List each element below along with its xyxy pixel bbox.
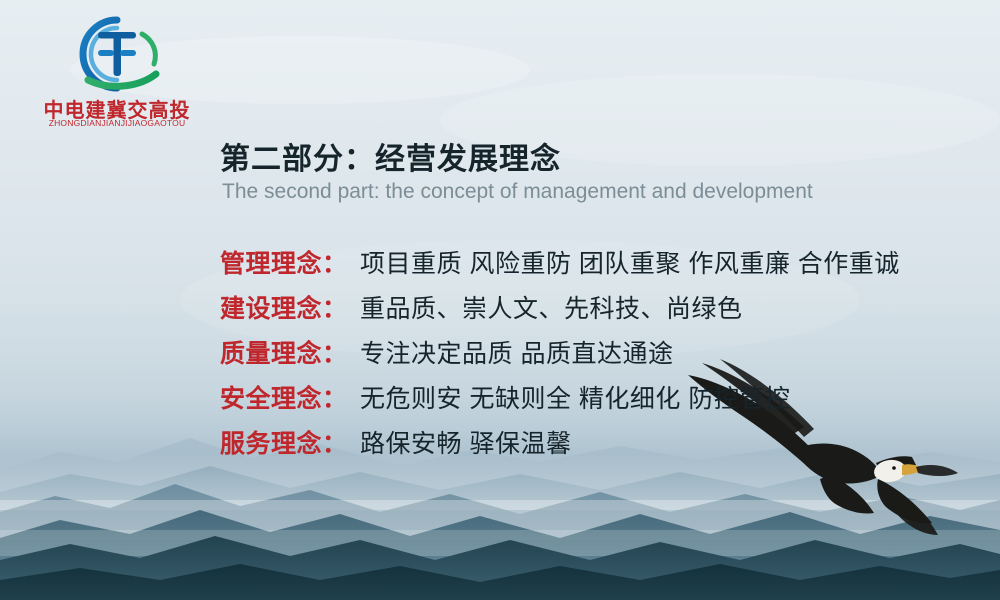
concept-value: 路保安畅 驿保温馨 <box>360 424 571 460</box>
concept-list: 管理理念： 项目重质 风险重防 团队重聚 作风重廉 合作重诚 建设理念： 重品质… <box>220 244 960 469</box>
company-logo: 中电建冀交高投 ZHONGDIANJIANJIJIAOGAOTOU <box>22 10 212 135</box>
concept-label: 安全理念： <box>220 379 360 415</box>
concept-row: 管理理念： 项目重质 风险重防 团队重聚 作风重廉 合作重诚 <box>220 244 960 289</box>
concept-label: 建设理念： <box>220 289 360 325</box>
concept-row: 质量理念： 专注决定品质 品质直达通途 <box>220 334 960 379</box>
slide-title-chinese: 第二部分：经营发展理念 <box>220 134 561 178</box>
concept-label: 质量理念： <box>220 334 360 370</box>
concept-value: 项目重质 风险重防 团队重聚 作风重廉 合作重诚 <box>360 244 900 280</box>
concept-label: 服务理念： <box>220 424 360 460</box>
concept-label: 管理理念： <box>220 244 360 280</box>
logo-mark-icon <box>22 10 212 96</box>
concept-value: 重品质、崇人文、先科技、尚绿色 <box>360 289 743 325</box>
concept-value: 无危则安 无缺则全 精化细化 防控管控 <box>360 379 790 415</box>
presentation-slide: 中电建冀交高投 ZHONGDIANJIANJIJIAOGAOTOU 第二部分：经… <box>0 0 1000 600</box>
logo-company-pinyin: ZHONGDIANJIANJIJIAOGAOTOU <box>22 118 212 128</box>
concept-row: 安全理念： 无危则安 无缺则全 精化细化 防控管控 <box>220 379 960 424</box>
concept-value: 专注决定品质 品质直达通途 <box>360 334 673 370</box>
concept-row: 建设理念： 重品质、崇人文、先科技、尚绿色 <box>220 289 960 334</box>
concept-row: 服务理念： 路保安畅 驿保温馨 <box>220 424 960 469</box>
slide-title-english: The second part: the concept of manageme… <box>222 180 813 204</box>
